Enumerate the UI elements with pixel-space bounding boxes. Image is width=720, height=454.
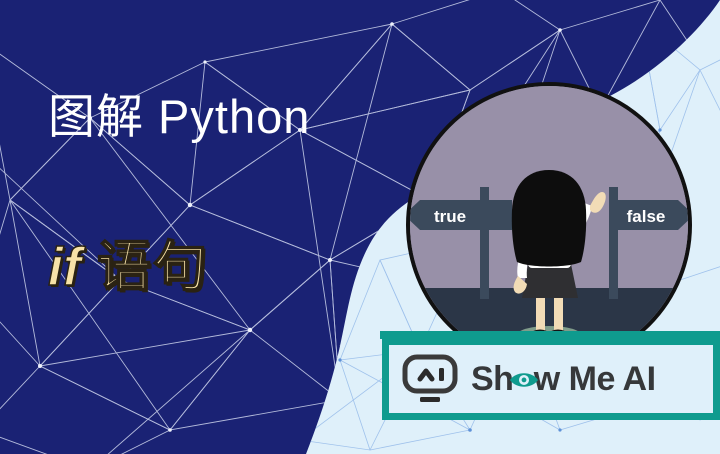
brand-logo-panel: Sho w Me AI xyxy=(389,345,713,413)
figure-hair xyxy=(512,170,586,267)
brand-name-part1: Sh xyxy=(471,360,513,398)
brand-name: Sho w Me AI xyxy=(471,360,656,399)
sign-label-true: true xyxy=(434,207,466,226)
page-subtitle: if语句 xyxy=(48,234,209,300)
cover-image: 图解 Python if语句 true xyxy=(0,0,720,454)
illustration-circle: true false xyxy=(406,82,692,368)
page-title-text: 图解 Python xyxy=(48,90,310,143)
brand-name-part2: w Me AI xyxy=(534,360,656,398)
brand-eye-letter: o xyxy=(513,360,533,399)
monitor-face-icon xyxy=(401,353,463,405)
page-subtitle-zh: 语句 xyxy=(97,237,209,297)
page-subtitle-latin: if xyxy=(48,237,81,297)
brand-logo[interactable]: Sho w Me AI xyxy=(382,338,720,420)
figure-skirt xyxy=(522,264,578,298)
eye-icon xyxy=(509,368,539,392)
page-title: 图解 Python xyxy=(48,88,310,146)
sign-label-false: false xyxy=(627,207,666,226)
